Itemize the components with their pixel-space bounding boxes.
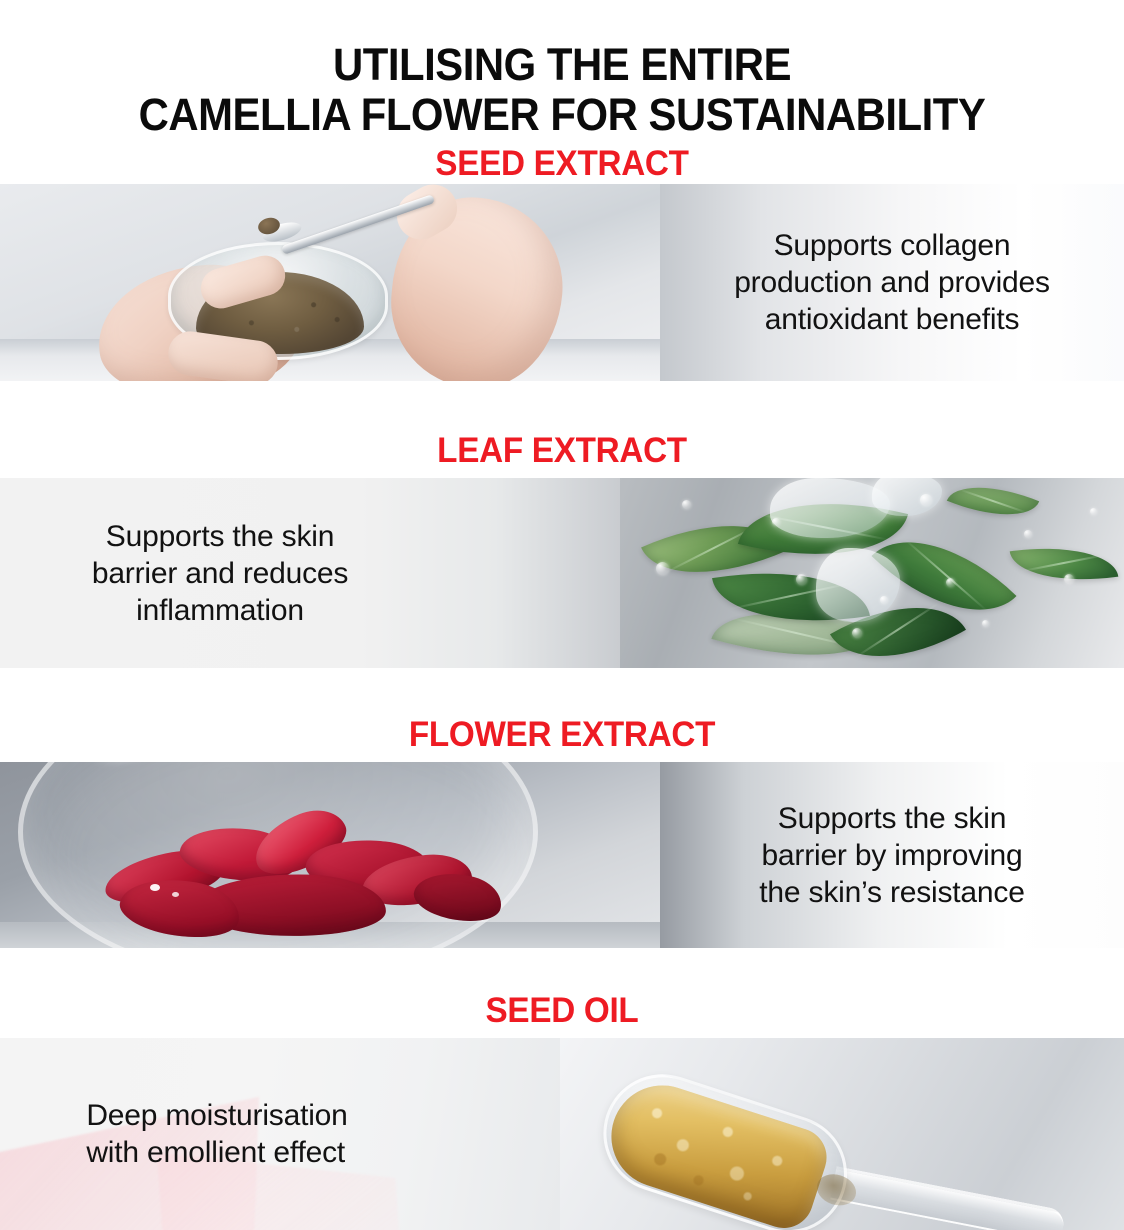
water-bubble [796,574,807,585]
water-bubble [920,494,932,506]
spacer-2 [0,668,1124,717]
section-band-seed-extract: Supports collagen production and provide… [0,184,1124,381]
body-line: antioxidant benefits [765,303,1020,336]
text-panel-seed-extract: Supports collagen production and provide… [660,184,1124,381]
image-flower-extract [0,762,660,948]
image-seed-extract [0,184,660,381]
panel-edge-highlight [1070,184,1124,381]
leaf [947,478,1039,533]
golden-oil [598,1072,834,1230]
text-panel-seed-oil: Deep moisturisation with emollient effec… [0,1038,560,1230]
section-heading-seed-oil: SEED OIL [28,993,1096,1038]
section-heading-seed-extract: SEED EXTRACT [28,140,1096,184]
text-panel-flower-extract: Supports the skin barrier by improving t… [660,762,1124,948]
glass-highlight [83,762,284,780]
spacer-3 [0,948,1124,993]
petal-highlight [150,884,160,891]
water-bubble [772,518,780,526]
body-line: Supports the skin [778,802,1006,835]
section-band-leaf-extract: Supports the skin barrier and reduces in… [0,478,1124,668]
body-line: Deep moisturisation [86,1099,347,1132]
page-title-line-1: UTILISING THE ENTIRE [39,40,1084,90]
body-line: production and provides [734,266,1050,299]
water-bubble [852,628,862,638]
section-band-seed-oil: Deep moisturisation with emollient effec… [0,1038,1124,1230]
body-text-seed-extract: Supports collagen production and provide… [734,227,1050,338]
water-bubble [1024,530,1032,538]
pipette-bulb [588,1059,862,1230]
image-leaf-extract [620,478,1124,668]
body-line: Supports collagen [774,229,1011,262]
spacer-1 [0,381,1124,433]
page-title-line-2: CAMELLIA FLOWER FOR SUSTAINABILITY [39,90,1084,140]
body-text-leaf-extract: Supports the skin barrier and reduces in… [92,518,348,629]
page-title: UTILISING THE ENTIRE CAMELLIA FLOWER FOR… [0,0,1124,140]
body-line: barrier and reduces [92,557,348,590]
pipette-stem [830,1166,1066,1230]
body-line: inflammation [136,594,304,627]
body-line: with emollient effect [86,1136,345,1169]
body-text-flower-extract: Supports the skin barrier by improving t… [759,800,1024,911]
section-heading-flower-extract: FLOWER EXTRACT [28,717,1096,762]
petal-highlight [172,892,179,897]
section-heading-leaf-extract: LEAF EXTRACT [28,433,1096,478]
water-bubble [982,620,989,627]
glass-pipette [587,1059,1071,1230]
water-bubble [1064,574,1074,584]
body-line: the skin’s resistance [759,876,1024,909]
water-bubble [880,596,888,604]
water-bubble [946,578,955,587]
body-line: Supports the skin [106,520,334,553]
water-bubble [656,562,669,575]
leaf [1010,537,1119,591]
water-bubble [1090,508,1097,515]
body-line: barrier by improving [761,839,1022,872]
water-bubble [682,500,691,509]
body-text-seed-oil: Deep moisturisation with emollient effec… [86,1097,347,1171]
text-panel-leaf-extract: Supports the skin barrier and reduces in… [0,478,620,668]
image-seed-oil [560,1038,1124,1230]
section-band-flower-extract: Supports the skin barrier by improving t… [0,762,1124,948]
